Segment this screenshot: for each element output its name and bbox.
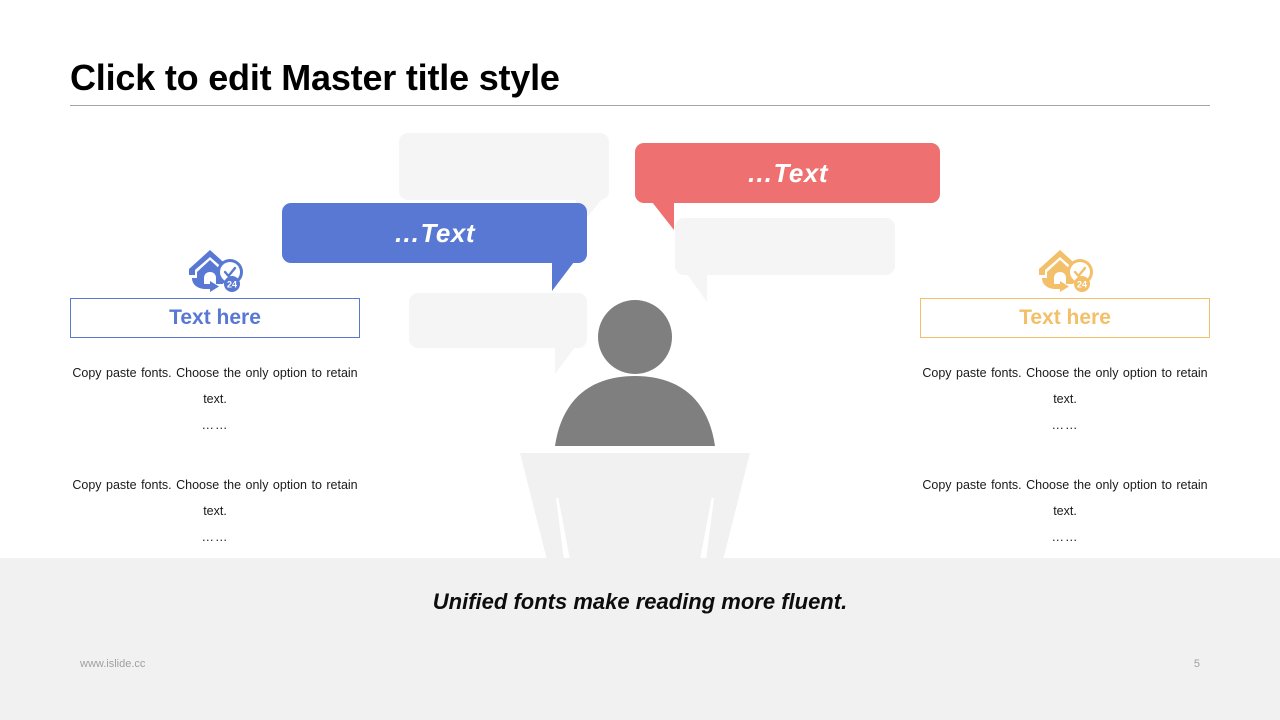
paragraph-line-1: Copy paste fonts. Choose the only option [72,478,307,492]
column-paragraph: Copy paste fonts. Choose the only option… [70,472,360,550]
svg-text:24: 24 [1077,280,1087,290]
column-heading-box-right[interactable]: Text here [920,298,1210,338]
paragraph-ellipsis: …… [920,524,1210,550]
column-paragraph: Copy paste fonts. Choose the only option… [70,360,360,438]
presenter-at-podium-icon [510,298,760,560]
speech-bubble-tail-red [652,202,674,230]
footer-band [0,558,1280,720]
svg-text:24: 24 [227,280,237,290]
paragraph-line-1: Copy paste fonts. Choose the only option [922,366,1157,380]
house-24h-clock-icon: 24 [186,248,244,292]
column-paragraph: Copy paste fonts. Choose the only option… [920,360,1210,438]
speech-bubble-red[interactable]: …Text [635,143,940,203]
content-column-left: 24 Text here Copy paste fonts. Choose th… [70,248,360,550]
speech-bubble-gray-right[interactable] [675,218,895,275]
footer-tagline: Unified fonts make reading more fluent. [0,589,1280,615]
speech-bubble-gray-top[interactable] [399,133,609,200]
paragraph-line-1: Copy paste fonts. Choose the only option [72,366,307,380]
paragraph-ellipsis: …… [70,412,360,438]
page-title[interactable]: Click to edit Master title style [70,57,1210,99]
content-column-right: 24 Text here Copy paste fonts. Choose th… [920,248,1210,550]
paragraph-ellipsis: …… [920,412,1210,438]
house-24h-clock-icon: 24 [1036,248,1094,292]
paragraph-line-1: Copy paste fonts. Choose the only option [922,478,1157,492]
paragraph-ellipsis: …… [70,524,360,550]
column-heading-label: Text here [169,306,261,330]
column-heading-box-left[interactable]: Text here [70,298,360,338]
title-divider [70,105,1210,106]
speech-bubble-tail-blue [552,262,574,291]
footer-page-number: 5 [1194,658,1200,670]
speech-bubble-label: …Text [635,143,940,203]
footer-website[interactable]: www.islide.cc [80,658,145,670]
column-heading-label: Text here [1019,306,1111,330]
column-paragraph: Copy paste fonts. Choose the only option… [920,472,1210,550]
